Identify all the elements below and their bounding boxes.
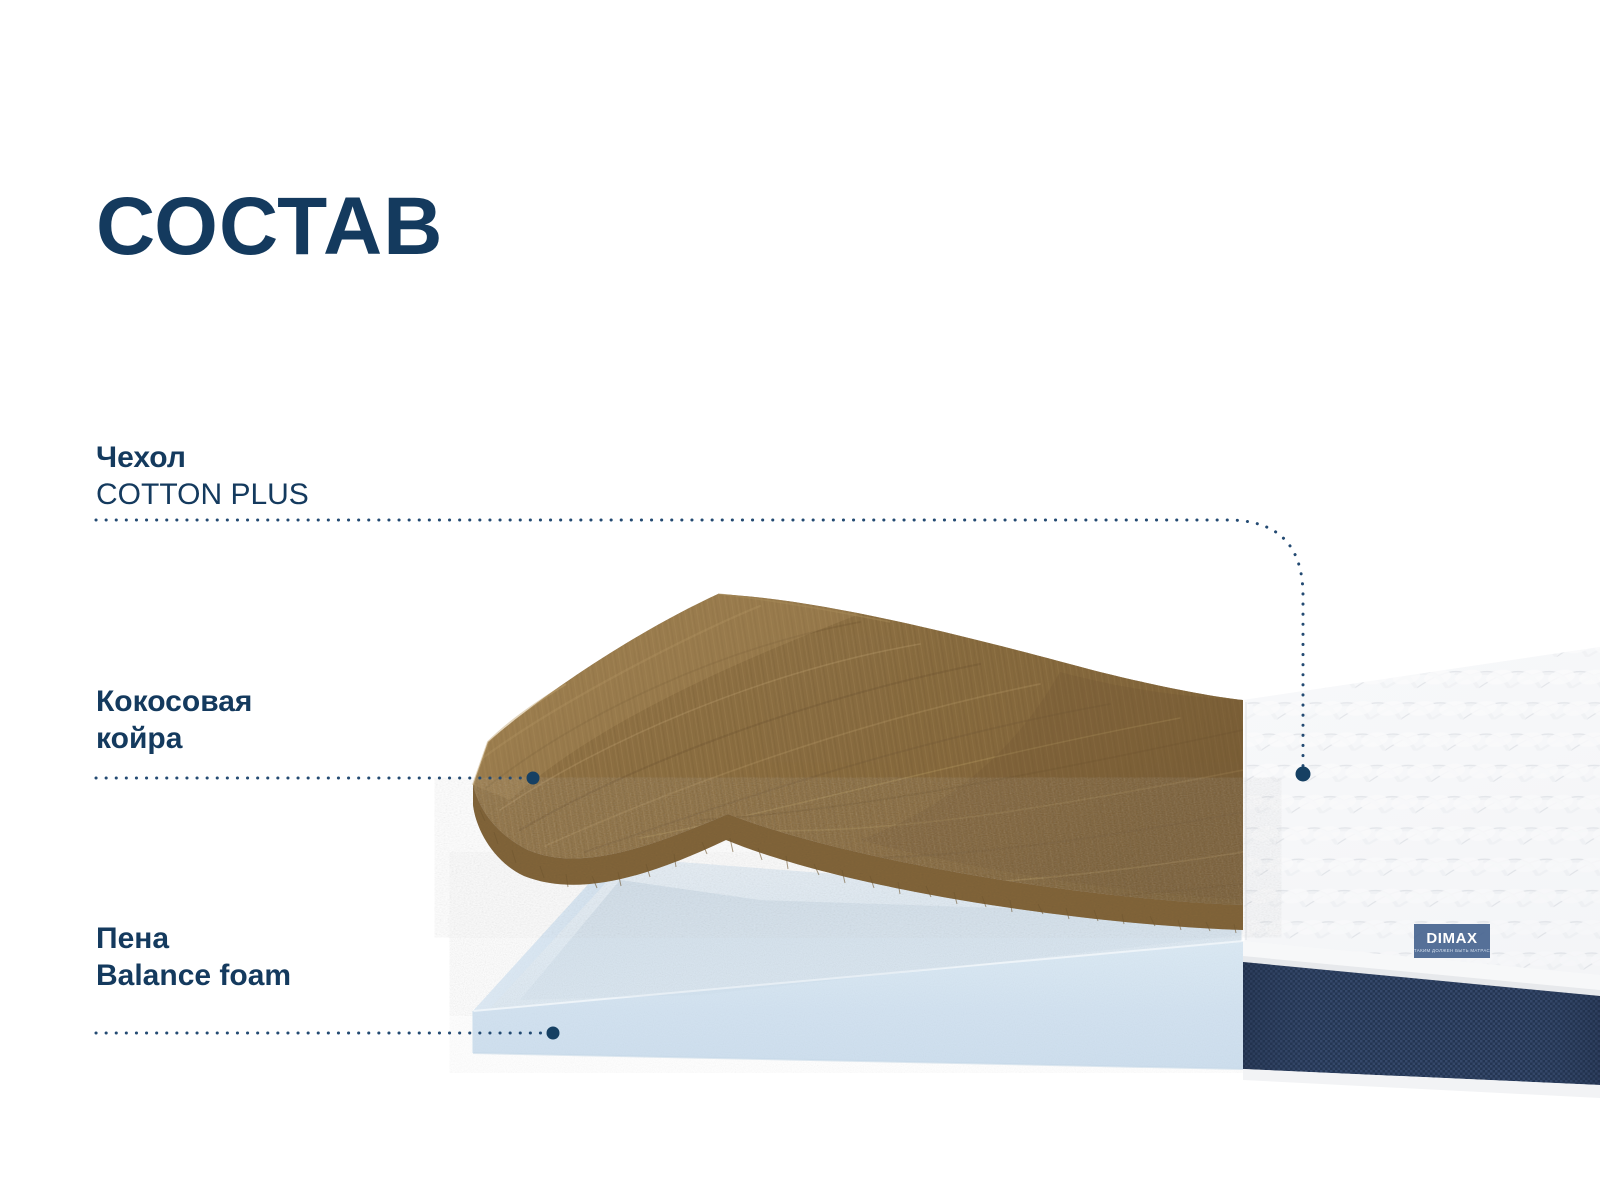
brand-badge-tagline: ТАКИМ ДОЛЖЕН БЫТЬ МАТРАС bbox=[1414, 948, 1490, 953]
brand-badge-name: DIMAX bbox=[1426, 930, 1477, 947]
callout-foam-line2: Balance foam bbox=[96, 958, 291, 995]
callout-foam-line1: Пена bbox=[96, 921, 291, 958]
callout-foam: Пена Balance foam bbox=[96, 921, 291, 994]
infographic-canvas: СОСТАВ bbox=[0, 0, 1600, 1201]
callout-coir: Кокосовая койра bbox=[96, 684, 252, 757]
callout-coir-line2: койра bbox=[96, 721, 252, 758]
callout-cover-line1: Чехол bbox=[96, 440, 309, 477]
callout-cover: Чехол COTTON PLUS bbox=[96, 440, 309, 513]
brand-badge: DIMAX ТАКИМ ДОЛЖЕН БЫТЬ МАТРАС bbox=[1414, 924, 1490, 958]
callout-coir-line1: Кокосовая bbox=[96, 684, 252, 721]
callout-cover-line2: COTTON PLUS bbox=[96, 477, 309, 514]
product-illustration: DIMAX ТАКИМ ДОЛЖЕН БЫТЬ МАТРАС bbox=[0, 0, 1600, 1201]
